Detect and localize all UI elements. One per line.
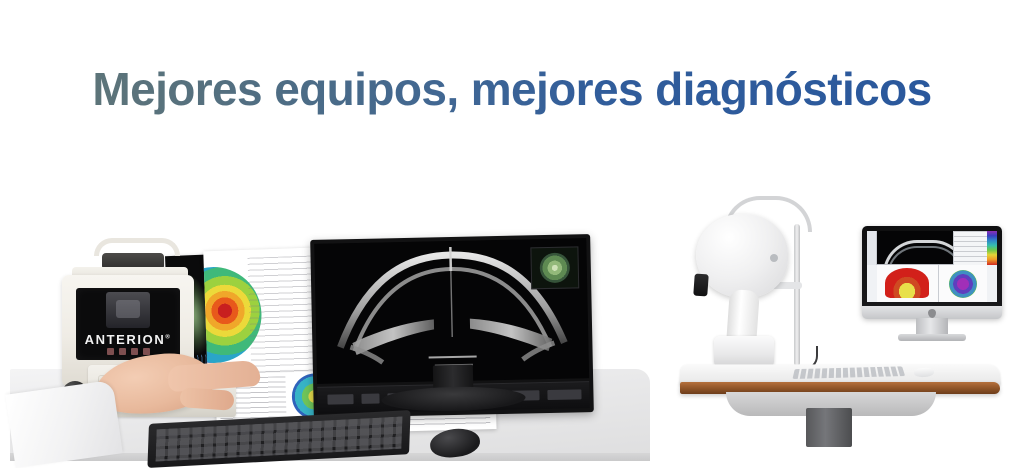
keyboard-keys: [156, 417, 403, 462]
map-panel-row: [877, 265, 987, 302]
pachymetry-map-panel[interactable]: [939, 265, 987, 302]
measurement-data-table[interactable]: [953, 231, 987, 265]
toolbar-chip-2[interactable]: [361, 394, 379, 404]
tomography-software-screen: [867, 231, 997, 302]
mode-icon-2: [119, 348, 126, 355]
page-title: Mejores equipos, mejores diagnósticos: [92, 62, 931, 116]
toolbar-chip-1[interactable]: [327, 394, 353, 405]
oct-monitor: [310, 234, 594, 418]
trademark-symbol: ®: [165, 335, 171, 341]
anterion-wordmark: ANTERION®: [76, 332, 180, 347]
all-in-one-computer: [862, 226, 1002, 332]
anterion-wordmark-text: ANTERION: [85, 332, 166, 347]
computer-bezel: [862, 226, 1002, 318]
lab-coat-sleeve: [5, 380, 122, 468]
tomographer-base: [714, 336, 774, 366]
anterion-device-screen: ANTERION®: [76, 288, 180, 360]
device-splash-graphic: [106, 292, 150, 328]
tomographer-measurement-head: [696, 214, 788, 298]
color-scale-bar: [987, 231, 997, 265]
elevation-map-panel[interactable]: [877, 265, 939, 302]
headline-band: Mejores equipos, mejores diagnósticos: [0, 58, 1024, 120]
instrument-table-pedestal: [806, 408, 852, 447]
iris-preview-thumbnail: [530, 246, 579, 289]
left-product-photo: ANTERION®: [10, 186, 650, 461]
computer-stand-base: [898, 334, 966, 341]
chinrest-post: [794, 224, 800, 366]
software-sidebar[interactable]: [867, 231, 877, 265]
mode-icon-3: [131, 348, 138, 355]
mode-icon-1: [107, 348, 114, 355]
right-product-photo: [676, 186, 1016, 461]
toolbar-chip-7[interactable]: [547, 389, 581, 400]
oct-monitor-screen: [314, 238, 589, 384]
tomographer-lens-module: [693, 274, 709, 297]
tomographer-indicator-dot: [770, 254, 778, 262]
operator-hand-thumb: [179, 387, 234, 411]
scheimpflug-scan-panel: [877, 231, 953, 265]
mode-icon-4: [143, 348, 150, 355]
